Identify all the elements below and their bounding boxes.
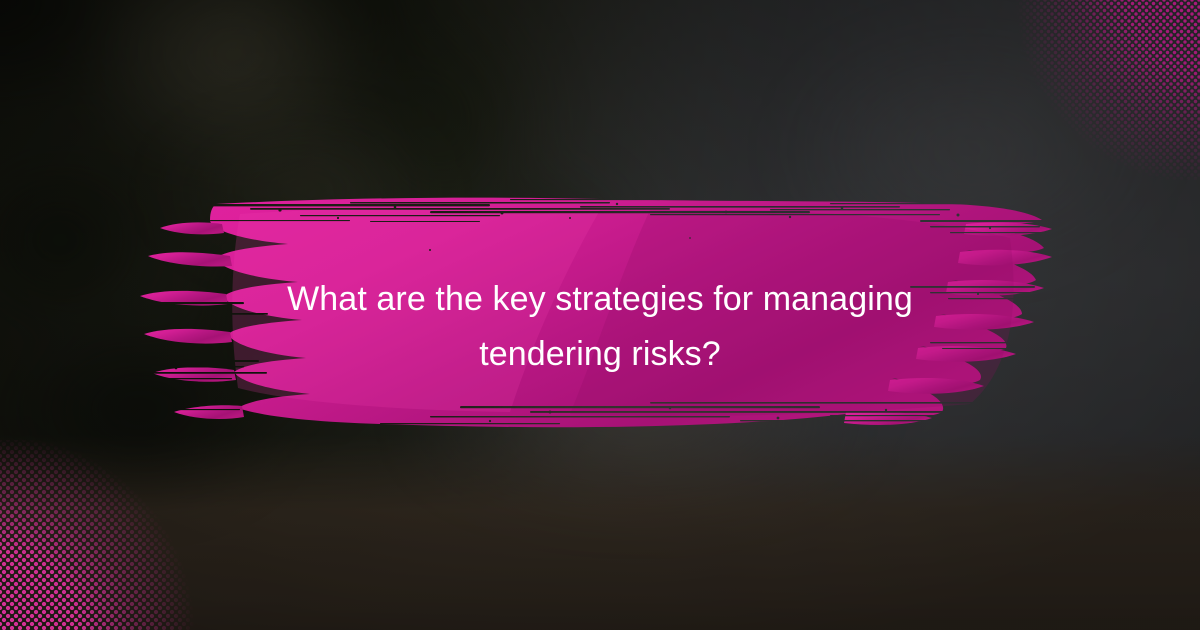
page-title: What are the key strategies for managing…: [180, 272, 1020, 382]
halftone-dots-top-right-icon: [1010, 0, 1200, 180]
halftone-dots-bottom-left-icon: [0, 440, 200, 630]
question-card: What are the key strategies for managing…: [0, 0, 1200, 630]
